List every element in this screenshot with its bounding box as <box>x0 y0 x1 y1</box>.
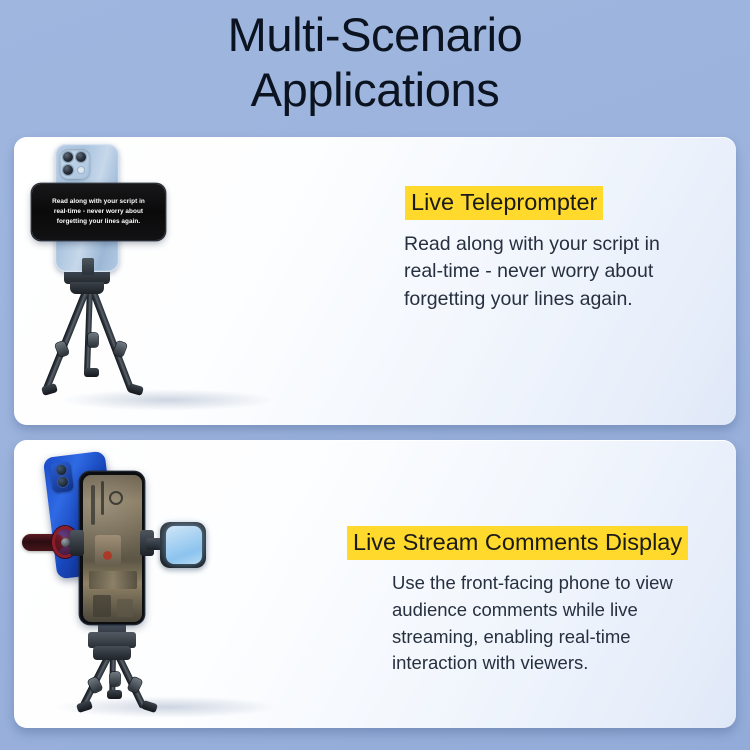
page-title-line-2: Applications <box>0 63 750 118</box>
camera-lens-secondary-icon <box>57 476 68 487</box>
camera-lens-main-icon <box>56 464 67 475</box>
feature-body-line-3: forgetting your lines again. <box>404 286 660 313</box>
feature-heading-teleprompter: Live Teleprompter <box>405 186 603 220</box>
feature-body-line-4: interaction with viewers. <box>392 650 673 677</box>
page-title: Multi-Scenario Applications <box>0 8 750 118</box>
feature-body-line-3: streaming, enabling real-time <box>392 624 673 651</box>
screen-detail-accent <box>103 551 112 560</box>
feature-body-line-2: real-time - never worry about <box>404 258 660 285</box>
phone-clamp-left <box>70 530 84 556</box>
teleprompter-line-2: real-time - never worry about <box>52 207 145 217</box>
camera-lens-wide-icon <box>63 152 73 162</box>
feature-body-line-1: Read along with your script in <box>404 231 660 258</box>
smartphone-front-display <box>80 472 144 624</box>
page-title-line-1: Multi-Scenario <box>0 8 750 63</box>
feature-body-teleprompter: Read along with your script in real-time… <box>404 231 660 313</box>
camera-flash-icon <box>78 167 84 173</box>
screen-detail-b <box>101 481 104 515</box>
phone-screen-content <box>83 475 142 622</box>
screen-detail-a <box>91 485 95 525</box>
tripod-foot-center <box>84 368 99 377</box>
microphone-tightening-knob[interactable] <box>61 538 70 547</box>
feature-card-live-stream-comments: Live Stream Comments Display Use the fro… <box>14 440 736 728</box>
tripod-foot-center <box>107 690 122 699</box>
feature-copy-teleprompter: Live Teleprompter Read along with your s… <box>344 137 736 425</box>
teleprompter-line-3: forgetting your lines again. <box>52 217 145 227</box>
leg-lock-knob-center[interactable] <box>88 333 98 347</box>
screen-detail-f <box>93 595 111 617</box>
screen-detail-e <box>89 571 137 589</box>
tripod-head-base <box>93 646 131 660</box>
phone-clamp <box>82 258 94 275</box>
teleprompter-screen: Read along with your script in real-time… <box>32 184 165 240</box>
camera-module <box>60 149 90 179</box>
screen-detail-c <box>109 491 123 505</box>
screen-detail-g <box>117 599 133 617</box>
leg-lock-knob-center[interactable] <box>110 672 120 686</box>
camera-lens-telephoto-icon <box>63 165 73 175</box>
feature-heading-live-stream: Live Stream Comments Display <box>347 526 688 560</box>
tripod-center-column <box>70 282 104 294</box>
camera-lens-ultrawide-icon <box>76 152 86 162</box>
feature-body-live-stream: Use the front-facing phone to view audie… <box>392 570 673 677</box>
product-image-live-stream <box>14 440 344 728</box>
ground-shadow <box>60 389 275 411</box>
feature-body-line-2: audience comments while live <box>392 597 673 624</box>
tripod-leg-right <box>42 286 90 392</box>
teleprompter-script-text: Read along with your script in real-time… <box>48 197 149 227</box>
teleprompter-line-1: Read along with your script in <box>52 197 145 207</box>
product-image-teleprompter: Read along with your script in real-time… <box>14 137 344 425</box>
feature-body-line-1: Use the front-facing phone to view <box>392 570 673 597</box>
camera-module <box>49 461 73 493</box>
screen-detail-d <box>95 535 121 565</box>
feature-card-live-teleprompter: Read along with your script in real-time… <box>14 137 736 425</box>
led-light-diffuser <box>166 526 202 564</box>
feature-copy-live-stream: Live Stream Comments Display Use the fro… <box>344 440 736 728</box>
